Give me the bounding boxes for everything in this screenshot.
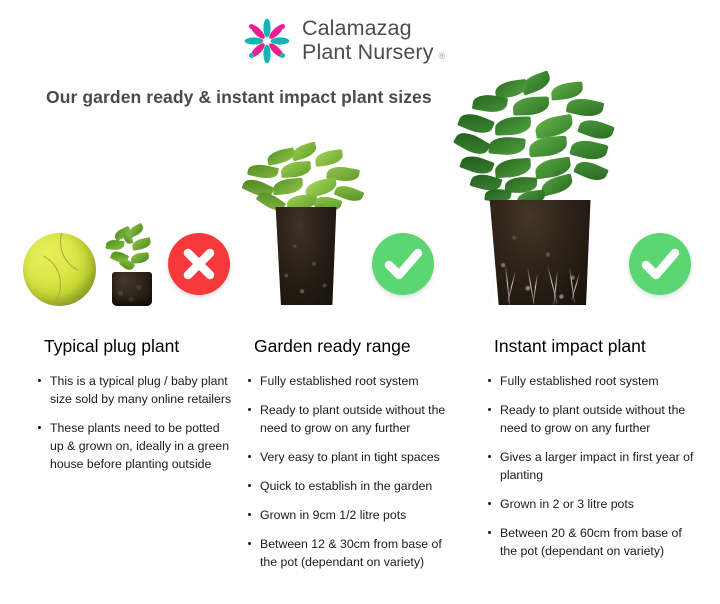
check-icon bbox=[629, 233, 691, 295]
column-title-typical-plug-plant: Typical plug plant bbox=[44, 336, 179, 357]
brand-logo: Calamazag Plant Nursery ® bbox=[241, 14, 445, 66]
list-item: Between 20 & 60cm from base of the pot (… bbox=[486, 524, 702, 560]
list-item: This is a typical plug / baby plant size… bbox=[36, 372, 232, 408]
feature-list-typical-plug-plant: This is a typical plug / baby plant size… bbox=[36, 372, 232, 484]
list-item: Grown in 2 or 3 litre pots bbox=[486, 495, 702, 513]
brand-name-line1: Calamazag bbox=[302, 16, 445, 40]
list-item: These plants need to be potted up & grow… bbox=[36, 419, 232, 473]
list-item: Between 12 & 30cm from base of the pot (… bbox=[246, 535, 462, 571]
page-title: Our garden ready & instant impact plant … bbox=[46, 87, 432, 108]
flower-logo-icon bbox=[241, 14, 293, 66]
check-icon bbox=[372, 233, 434, 295]
list-item: Fully established root system bbox=[486, 372, 702, 390]
brand-name-line2: Plant Nursery bbox=[302, 40, 434, 64]
registered-trademark-symbol: ® bbox=[439, 51, 446, 61]
garden-ready-plant-photo bbox=[243, 145, 367, 305]
list-item: Quick to establish in the garden bbox=[246, 477, 462, 495]
list-item: Gives a larger impact in first year of p… bbox=[486, 448, 702, 484]
column-title-garden-ready-range: Garden ready range bbox=[254, 336, 411, 357]
column-title-instant-impact-plant: Instant impact plant bbox=[494, 336, 646, 357]
tennis-ball-scale-reference bbox=[23, 233, 96, 306]
list-item: Very easy to plant in tight spaces bbox=[246, 448, 462, 466]
list-item: Grown in 9cm 1/2 litre pots bbox=[246, 506, 462, 524]
feature-list-instant-impact-plant: Fully established root system Ready to p… bbox=[486, 372, 702, 572]
instant-impact-plant-photo bbox=[455, 75, 623, 305]
feature-list-garden-ready-range: Fully established root system Ready to p… bbox=[246, 372, 462, 583]
list-item: Ready to plant outside without the need … bbox=[486, 401, 702, 437]
cross-icon bbox=[168, 233, 230, 295]
list-item: Ready to plant outside without the need … bbox=[246, 401, 462, 437]
list-item: Fully established root system bbox=[246, 372, 462, 390]
exposed-roots bbox=[485, 265, 593, 307]
plug-plant-photo bbox=[102, 222, 162, 306]
